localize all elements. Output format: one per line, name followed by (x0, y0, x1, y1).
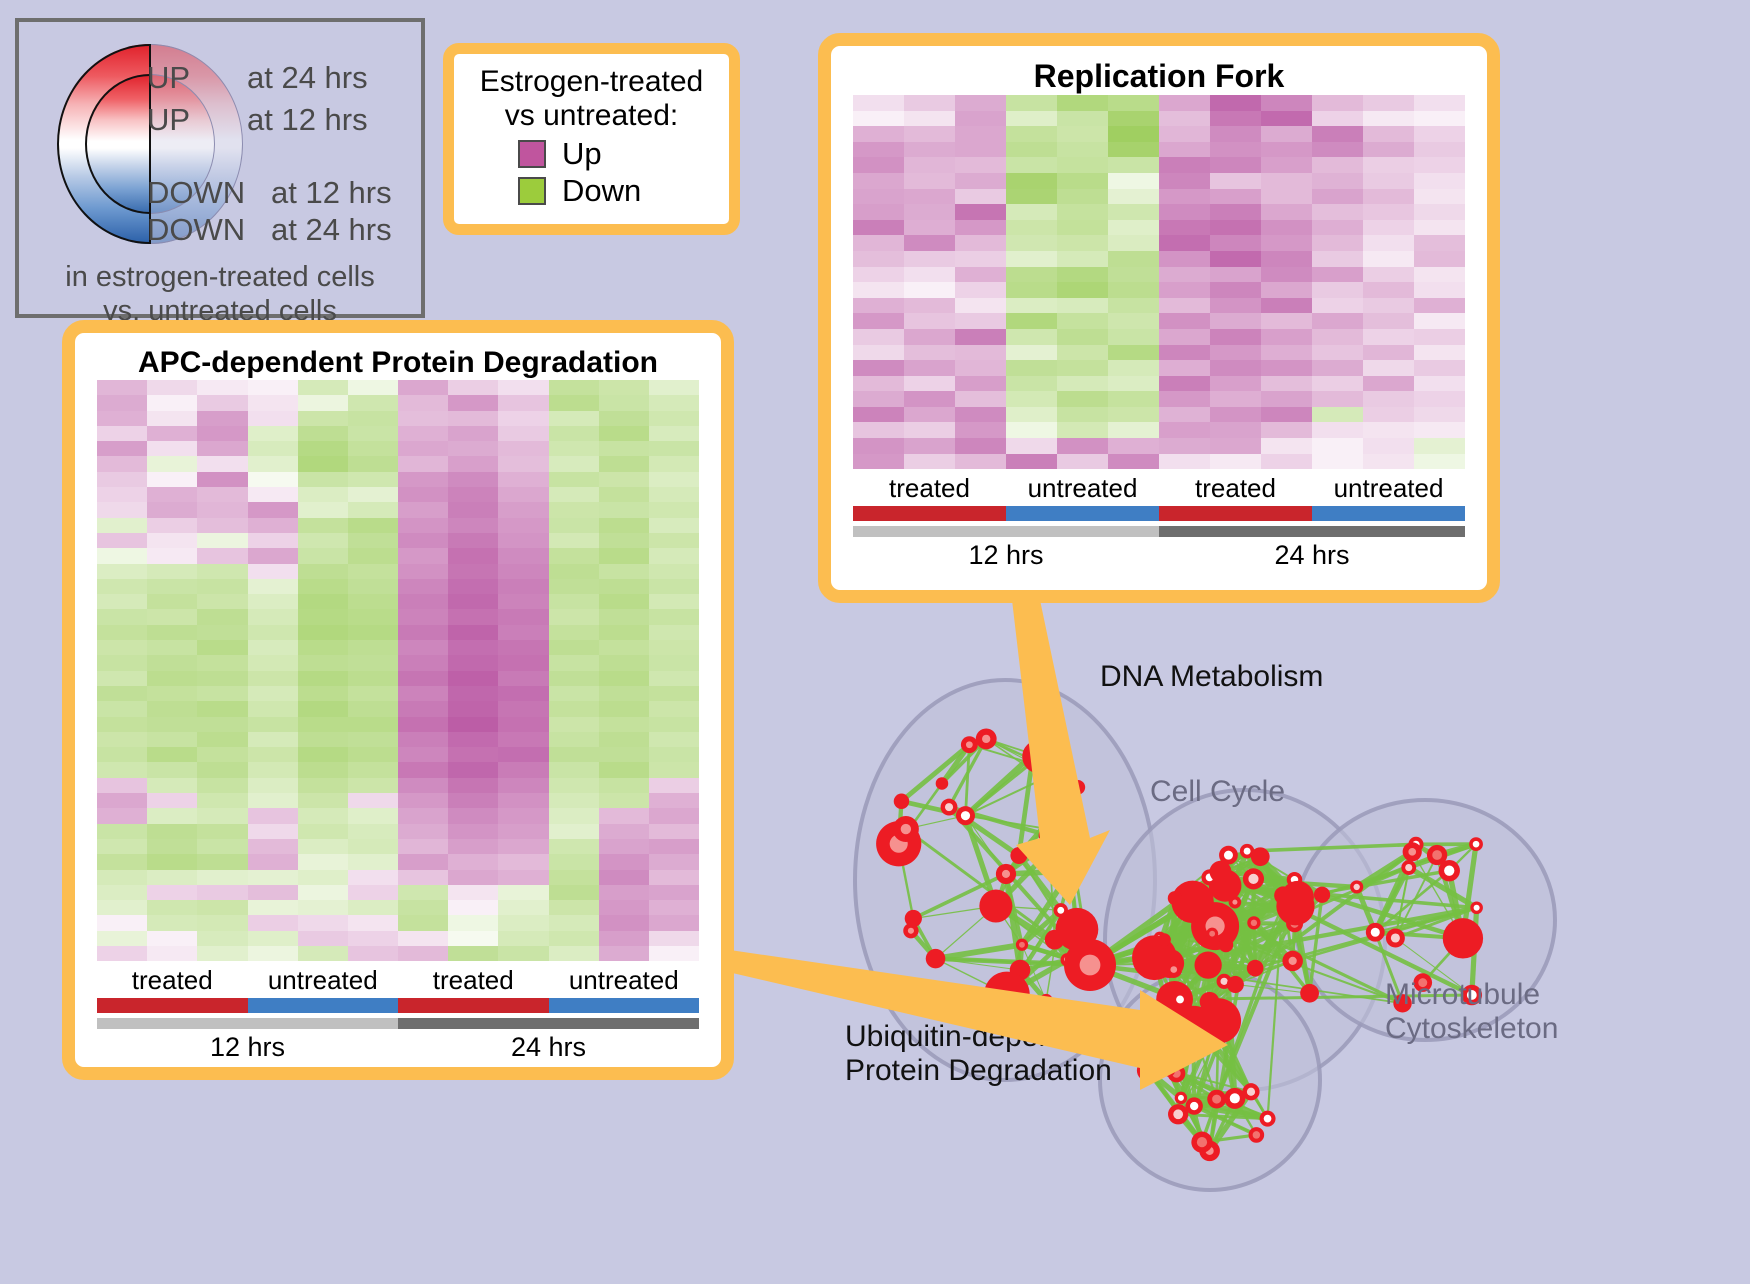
heatmap-cell (498, 502, 548, 517)
heatmap-cell (599, 456, 649, 471)
heatmap-cell (97, 701, 147, 716)
heatmap-cell (1210, 298, 1261, 314)
heatmap-cell (649, 395, 699, 410)
heatmap-cell (147, 870, 197, 885)
heatmap-cell (147, 854, 197, 869)
heatmap-cell (448, 732, 498, 747)
heatmap-cell (599, 778, 649, 793)
heatmap-cell (498, 380, 548, 395)
heatmap-cell (1057, 126, 1108, 142)
heatmap-cell (248, 655, 298, 670)
heatmap-cell (248, 793, 298, 808)
heatmap-cell (248, 900, 298, 915)
heatmap-cell (1312, 298, 1363, 314)
heatmap-cell (955, 142, 1006, 158)
heatmap-cell (348, 824, 398, 839)
heatmap-cell (147, 609, 197, 624)
heatmap-cell (549, 640, 599, 655)
heatmap-cell (549, 380, 599, 395)
heatmap-cell (498, 548, 548, 563)
heatmap-cell (1210, 345, 1261, 361)
heatmap-cell (147, 808, 197, 823)
heatmap-cell (248, 824, 298, 839)
heatmap-cell (398, 778, 448, 793)
heatmap-cell (197, 686, 247, 701)
heatmap-cell (1261, 329, 1312, 345)
heatmap-cell (1414, 422, 1465, 438)
heatmap-cell (298, 824, 348, 839)
heatmap-cell (248, 808, 298, 823)
heatmap-cell (248, 533, 298, 548)
heatmap-cell (1057, 251, 1108, 267)
heatmap-cell (498, 564, 548, 579)
heatmap-cell (197, 717, 247, 732)
heatmap-cell (1108, 126, 1159, 142)
heatmap-cell (904, 298, 955, 314)
network-node (1039, 825, 1059, 845)
heatmap-cell (904, 220, 955, 236)
heatmap-cell (398, 625, 448, 640)
heatmap-cell (398, 441, 448, 456)
time-color-bar (853, 526, 1159, 537)
heatmap-cell (1414, 157, 1465, 173)
heatmap-cell (549, 793, 599, 808)
heatmap-cell (549, 915, 599, 930)
heatmap-cell (1312, 126, 1363, 142)
heatmap-cell (398, 885, 448, 900)
heatmap-cell (97, 472, 147, 487)
heatmap-cell (549, 762, 599, 777)
heatmap-cell (248, 472, 298, 487)
heatmap-cell (298, 808, 348, 823)
heatmap-cell (97, 441, 147, 456)
heatmap-cell (448, 854, 498, 869)
heatmap-cell (1108, 407, 1159, 423)
heatmap-cell (498, 518, 548, 533)
heatmap-cell (197, 533, 247, 548)
heatmap-cell (97, 900, 147, 915)
heatmap-cell (197, 778, 247, 793)
heatmap-cell (248, 671, 298, 686)
heatmap-cell (549, 870, 599, 885)
heatmap-cell (348, 793, 398, 808)
heatmap-cell (1057, 157, 1108, 173)
heatmap-cell (398, 793, 448, 808)
heatmap-cell (448, 380, 498, 395)
network-node-core (982, 735, 990, 743)
heatmap-cell (1414, 407, 1465, 423)
heatmap-cell (1057, 189, 1108, 205)
heatmap-cell (1261, 111, 1312, 127)
heatmap-cell (1414, 142, 1465, 158)
heatmap-cell (853, 438, 904, 454)
figure-canvas: UP at 24 hrs UP at 12 hrs DOWN at 12 hrs… (0, 0, 1750, 1279)
heatmap-cell (599, 533, 649, 548)
heatmap-cell (599, 640, 649, 655)
cluster-label-mt-line2: Cytoskeleton (1385, 1012, 1558, 1046)
network-node (1314, 887, 1330, 903)
heatmap-cell (147, 487, 197, 502)
heatmap-cell (147, 472, 197, 487)
heatmap-cell (147, 900, 197, 915)
key-row-time-1: at 12 hrs (247, 104, 368, 135)
heatmap-cell (1414, 95, 1465, 111)
heatmap-cell (498, 533, 548, 548)
heatmap-cell (1006, 438, 1057, 454)
heatmap-cell (248, 594, 298, 609)
heatmap-cell (448, 625, 498, 640)
network-node-core (1032, 750, 1045, 763)
heatmap-cell (1261, 454, 1312, 470)
heatmap-cell (1057, 220, 1108, 236)
heatmap-cell (1159, 126, 1210, 142)
heatmap-cell (649, 456, 699, 471)
heatmap-cell (448, 609, 498, 624)
heatmap-cell (1261, 220, 1312, 236)
heatmap-cell (1159, 329, 1210, 345)
heatmap-cell (1210, 95, 1261, 111)
heatmap-cell (97, 640, 147, 655)
heatmap-cell (298, 686, 348, 701)
heatmap-cell (1414, 329, 1465, 345)
heatmap-cell (1057, 407, 1108, 423)
heatmap-cell (549, 701, 599, 716)
heatmap-cell (904, 313, 955, 329)
heatmap-cell (1363, 142, 1414, 158)
heatmap-cell (448, 548, 498, 563)
heatmap-cell (1414, 235, 1465, 251)
heatmap-cell (1057, 454, 1108, 470)
heatmap-cell (348, 548, 398, 563)
heatmap-cell (197, 946, 247, 961)
heatmap-cell (649, 839, 699, 854)
heatmap-cell (1159, 157, 1210, 173)
heatmap-cell (549, 594, 599, 609)
heatmap-cell (1159, 407, 1210, 423)
heatmap-cell (147, 655, 197, 670)
heatmap-cell (1159, 235, 1210, 251)
heatmap-cell (147, 625, 197, 640)
heatmap-cell (97, 487, 147, 502)
heatmap-cell (1057, 438, 1108, 454)
heatmap-cell (549, 854, 599, 869)
group-label: untreated (1006, 475, 1159, 502)
heatmap-cell (1210, 142, 1261, 158)
network-node-core (1232, 900, 1237, 905)
heatmap-cell (549, 717, 599, 732)
down-color-swatch (518, 177, 546, 205)
group-label: treated (853, 475, 1006, 502)
heatmap-cell (97, 548, 147, 563)
heatmap-cell (197, 870, 247, 885)
heatmap-cell (649, 885, 699, 900)
heatmap-cell (348, 839, 398, 854)
heatmap-cell (147, 640, 197, 655)
heatmap-cell (197, 793, 247, 808)
heatmap-cell (1006, 391, 1057, 407)
heatmap-cell (97, 778, 147, 793)
heatmap-cell (197, 854, 247, 869)
heatmap-cell (1414, 454, 1465, 470)
heatmap-cell (1006, 235, 1057, 251)
heatmap-cell (448, 793, 498, 808)
network-node-core (1002, 870, 1010, 878)
heatmap-cell (549, 885, 599, 900)
network-node (1227, 976, 1244, 993)
heatmap-cell (348, 640, 398, 655)
heatmap-cell (97, 762, 147, 777)
heatmap-cell (549, 441, 599, 456)
network-node-core (1166, 1067, 1172, 1073)
heatmap-cell (298, 533, 348, 548)
heatmap-cell (348, 472, 398, 487)
heatmap-cell (649, 472, 699, 487)
group-color-bar (1159, 506, 1312, 521)
heatmap-cell (853, 251, 904, 267)
heatmap-cell (1006, 189, 1057, 205)
heatmap-cell (1108, 235, 1159, 251)
heatmap-cell (197, 839, 247, 854)
heatmap-cell (904, 142, 955, 158)
heatmap-cell (248, 854, 298, 869)
heatmap-cell (1159, 111, 1210, 127)
heatmap-cell (1006, 407, 1057, 423)
heatmap-cell (1312, 345, 1363, 361)
heatmap-cell (97, 915, 147, 930)
heatmap-cell (599, 518, 649, 533)
heatmap-cell (197, 824, 247, 839)
heatmap-cell (649, 487, 699, 502)
heatmap-cell (197, 701, 247, 716)
heatmap-cell (599, 548, 649, 563)
heatmap-cell (448, 533, 498, 548)
heatmap-cell (1108, 360, 1159, 376)
heatmap-cell (1363, 345, 1414, 361)
heatmap-cell (599, 854, 649, 869)
heatmap-cell (1006, 360, 1057, 376)
heatmap-cell (147, 518, 197, 533)
network-node-core (966, 741, 973, 748)
group-color-bar (97, 998, 248, 1013)
heatmap-cell (955, 267, 1006, 283)
heatmap-cell (398, 640, 448, 655)
network-node (1443, 918, 1483, 958)
heatmap-cell (649, 640, 699, 655)
heatmap-cell (97, 579, 147, 594)
heatmap-cell (448, 762, 498, 777)
heatmap-cell (649, 778, 699, 793)
heatmap-cell (1159, 454, 1210, 470)
heatmap-cell (398, 915, 448, 930)
heatmap-cell (1312, 189, 1363, 205)
heatmap-cell (955, 282, 1006, 298)
heatmap-cell (147, 732, 197, 747)
heatmap-cell (348, 426, 398, 441)
heatmap-cell (97, 625, 147, 640)
heatmap-cell (1108, 298, 1159, 314)
network-node-core (1170, 966, 1177, 973)
heatmap-cell (398, 839, 448, 854)
heatmap-cell (398, 732, 448, 747)
heatmap-cell (649, 701, 699, 716)
heatmap-cell (448, 946, 498, 961)
heatmap-cell (599, 900, 649, 915)
heatmap-cell (1210, 376, 1261, 392)
heatmap-cell (147, 441, 197, 456)
heatmap-cell (955, 251, 1006, 267)
heatmap-cell (955, 95, 1006, 111)
heatmap-cell (248, 686, 298, 701)
heatmap-cell (1261, 204, 1312, 220)
heatmap-cell (1108, 376, 1159, 392)
heatmap-cell (1057, 235, 1108, 251)
heatmap-cell (97, 732, 147, 747)
heatmap-cell (599, 594, 649, 609)
heatmap-cell (97, 717, 147, 732)
heatmap-cell (498, 870, 548, 885)
heatmap-cell (549, 778, 599, 793)
heatmap-cell (398, 931, 448, 946)
heatmap-cell (853, 329, 904, 345)
heatmap-cell (1057, 313, 1108, 329)
heatmap-cell (1108, 391, 1159, 407)
heatmap-cell (298, 946, 348, 961)
heatmap-cell (248, 380, 298, 395)
heatmap-cell (398, 655, 448, 670)
heatmap-cell (97, 609, 147, 624)
heatmap-cell (1414, 438, 1465, 454)
heatmap-cell (649, 762, 699, 777)
heatmap-cell (448, 900, 498, 915)
heatmap-cell (1159, 173, 1210, 189)
cluster-label-ubiquitin-degradation: Ubiquitin-dependent Protein Degradation (845, 1020, 1114, 1087)
network-node-core (1143, 1065, 1154, 1076)
heatmap-cell (1057, 111, 1108, 127)
heatmap-cell (549, 625, 599, 640)
heatmap-cell (853, 204, 904, 220)
heatmap-cell (1057, 422, 1108, 438)
heatmap-cell (197, 441, 247, 456)
heatmap-cell (549, 839, 599, 854)
heatmap-cell (1261, 173, 1312, 189)
network-node-core (1190, 1102, 1198, 1110)
heatmap-cell (649, 380, 699, 395)
heatmap-cell (649, 671, 699, 686)
network-node-core (961, 811, 970, 820)
apc-time-bar (97, 1018, 699, 1029)
heatmap-cell (1108, 173, 1159, 189)
heatmap-cell (197, 548, 247, 563)
heatmap-cell (1312, 438, 1363, 454)
key-row-time-0: at 24 hrs (247, 62, 368, 93)
heatmap-cell (1210, 111, 1261, 127)
up-color-swatch (518, 140, 546, 168)
heatmap-cell (853, 157, 904, 173)
time-label: 12 hrs (97, 1032, 398, 1063)
heatmap-cell (197, 609, 247, 624)
heatmap-cell (298, 762, 348, 777)
heatmap-cell (248, 548, 298, 563)
heatmap-cell (197, 395, 247, 410)
heatmap-cell (1414, 298, 1465, 314)
heatmap-cell (197, 640, 247, 655)
heatmap-cell (1006, 313, 1057, 329)
heatmap-cell (348, 885, 398, 900)
heatmap-cell (904, 438, 955, 454)
heatmap-cell (498, 747, 548, 762)
heatmap-cell (599, 870, 649, 885)
heatmap-cell (348, 717, 398, 732)
heatmap-cell (853, 95, 904, 111)
heatmap-cell (1108, 251, 1159, 267)
network-node (1051, 764, 1067, 780)
heatmap-cell (649, 946, 699, 961)
heatmap-cell (348, 778, 398, 793)
heatmap-cell (599, 839, 649, 854)
heatmap-cell (955, 438, 1006, 454)
network-node-core (1264, 1115, 1272, 1123)
heatmap-cell (298, 625, 348, 640)
heatmap-cell (348, 594, 398, 609)
heatmap-cell (955, 220, 1006, 236)
heatmap-cell (1057, 267, 1108, 283)
heatmap-cell (298, 548, 348, 563)
legend-title-line1: Estrogen-treated (454, 65, 729, 99)
heatmap-cell (1414, 267, 1465, 283)
heatmap-cell (955, 173, 1006, 189)
heatmap-cell (298, 411, 348, 426)
heatmap-cell (448, 915, 498, 930)
heatmap-cell (1261, 142, 1312, 158)
heatmap-cell (1159, 267, 1210, 283)
heatmap-cell (1006, 345, 1057, 361)
network-node-core (1080, 955, 1101, 976)
heatmap-cell (904, 422, 955, 438)
heatmap-cell (197, 502, 247, 517)
heatmap-cell (649, 441, 699, 456)
legend-title: Estrogen-treated vs untreated: (454, 54, 729, 132)
heatmap-cell (248, 502, 298, 517)
heatmap-cell (549, 732, 599, 747)
heatmap-cell (1210, 329, 1261, 345)
heatmap-cell (1261, 95, 1312, 111)
heatmap-cell (197, 518, 247, 533)
heatmap-cell (649, 502, 699, 517)
heatmap-cell (1363, 329, 1414, 345)
network-node (936, 777, 949, 790)
heatmap-cell (1414, 204, 1465, 220)
heatmap-cell (1210, 360, 1261, 376)
heatmap-cell (197, 885, 247, 900)
replication-time-labels: 12 hrs24 hrs (853, 540, 1465, 571)
time-label: 12 hrs (853, 540, 1159, 571)
heatmap-cell (448, 426, 498, 441)
heatmap-cell (147, 533, 197, 548)
heatmap-cell (1312, 235, 1363, 251)
group-color-bar (248, 998, 399, 1013)
heatmap-cell (1210, 454, 1261, 470)
heatmap-cell (549, 808, 599, 823)
heatmap-cell (1363, 204, 1414, 220)
heatmap-cell (599, 441, 649, 456)
heatmap-cell (1057, 282, 1108, 298)
heatmap-cell (549, 747, 599, 762)
network-node-core (1289, 957, 1297, 965)
heatmap-cell (904, 454, 955, 470)
heatmap-cell (955, 360, 1006, 376)
heatmap-cell (549, 518, 599, 533)
heatmap-cell (1006, 376, 1057, 392)
